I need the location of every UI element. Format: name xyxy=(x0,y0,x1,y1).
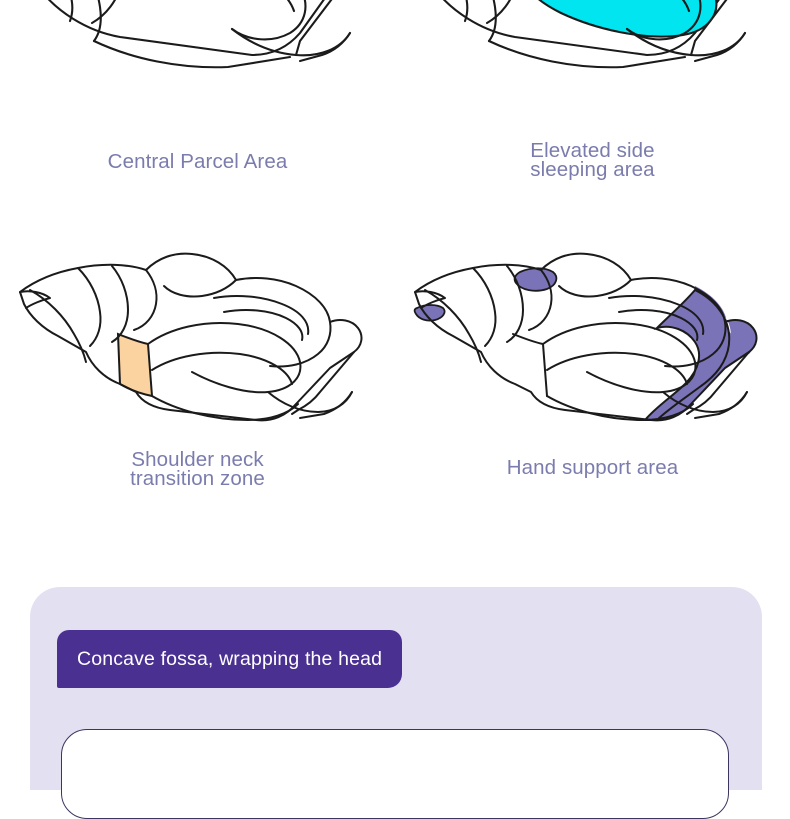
feature-card-elevated-side-sleeping-area: Elevated side sleeping area xyxy=(395,0,790,165)
feature-label-hand-support-area: Hand support area xyxy=(395,458,790,477)
pillow-illustration-shoulder-neck-transition-zone xyxy=(0,250,395,450)
peach-shoulder-zone xyxy=(118,334,152,396)
feature-label-elevated-side-sleeping-area: Elevated side sleeping area xyxy=(395,141,790,179)
feature-card-hand-support-area: Hand support area xyxy=(395,250,790,500)
feature-label-central-parcel-area: Central Parcel Area xyxy=(0,152,395,171)
concave-fossa-badge-label: Concave fossa, wrapping the head xyxy=(77,648,382,671)
feature-grid: Central Parcel Area xyxy=(0,0,790,560)
pillow-illustration-elevated-side-sleeping-area xyxy=(395,0,790,115)
concave-fossa-badge: Concave fossa, wrapping the head xyxy=(57,630,402,688)
pillow-illustration-hand-support-area xyxy=(395,250,790,450)
info-panel: Concave fossa, wrapping the head xyxy=(30,587,762,790)
pillow-illustration-central-parcel-area xyxy=(0,0,395,115)
feature-card-shoulder-neck-transition-zone: Shoulder neck transition zone xyxy=(0,250,395,500)
feature-card-central-parcel-area: Central Parcel Area xyxy=(0,0,395,165)
info-panel-card xyxy=(61,729,729,819)
feature-label-shoulder-neck-transition-zone: Shoulder neck transition zone xyxy=(0,450,395,488)
